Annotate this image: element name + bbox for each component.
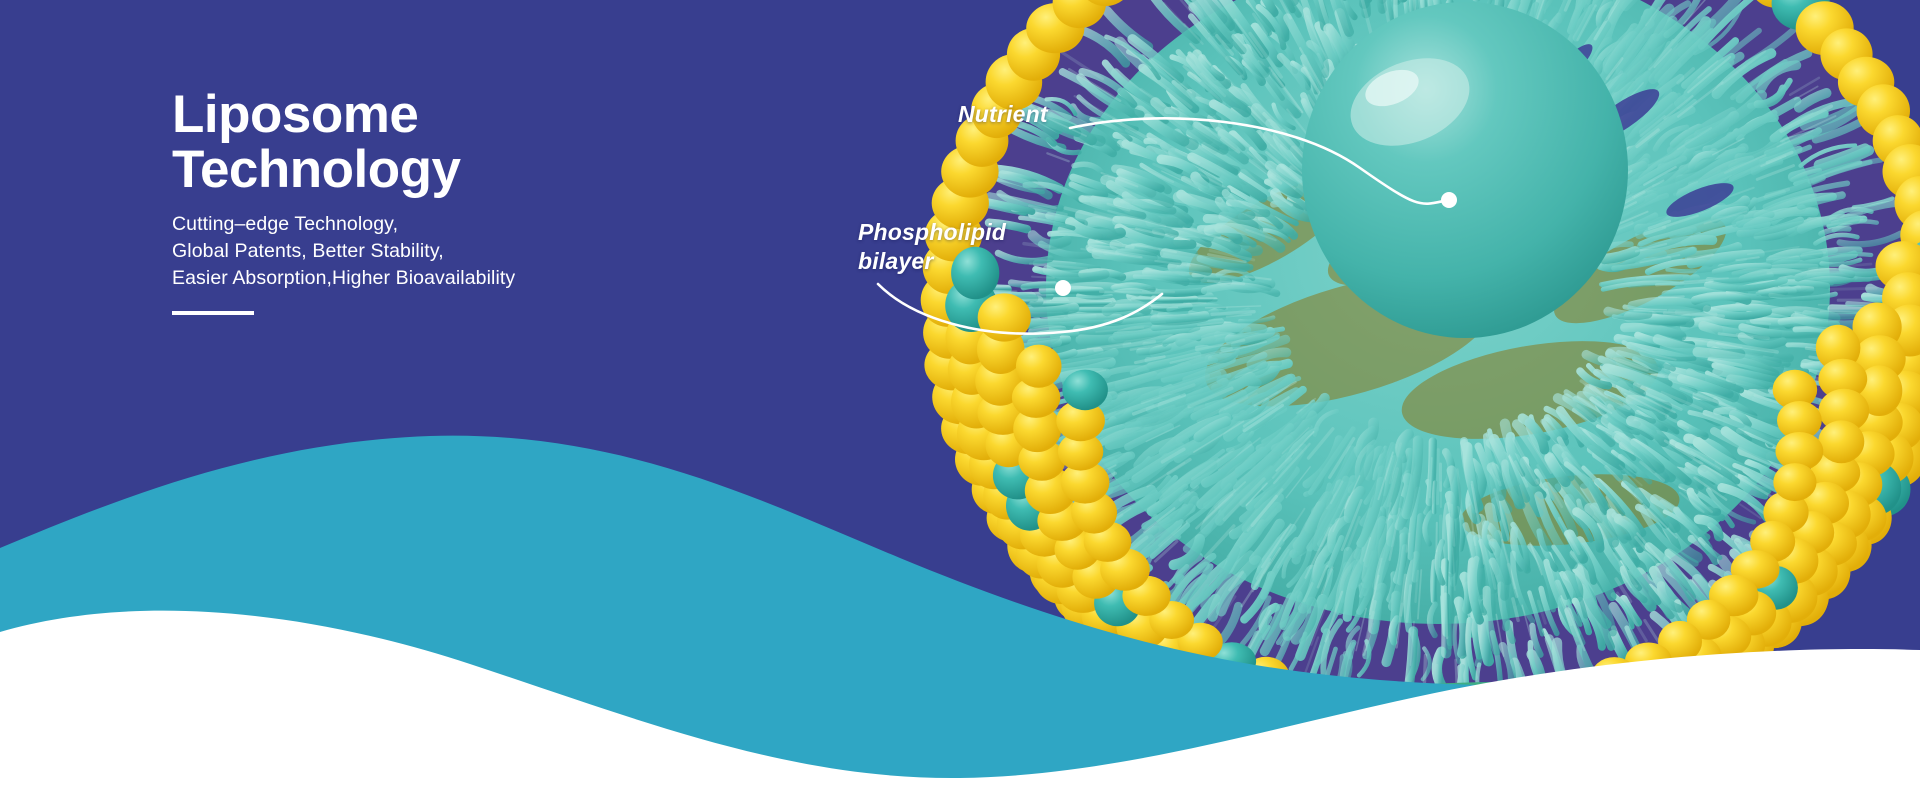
- decorative-waves: [0, 380, 1920, 800]
- headline-block: Liposome Technology Cutting–edge Technol…: [172, 88, 792, 315]
- subtitle-line-1: Cutting–edge Technology,: [172, 211, 792, 238]
- liposome-technology-banner: Liposome Technology Cutting–edge Technol…: [0, 0, 1920, 800]
- callout-label-phospholipid-bilayer: Phospholipid bilayer: [858, 218, 1006, 276]
- subtitle-line-2: Global Patents, Better Stability,: [172, 238, 792, 265]
- page-title: Liposome Technology: [172, 88, 792, 197]
- subtitle-line-3: Easier Absorption,Higher Bioavailability: [172, 265, 792, 292]
- title-underline-rule: [172, 311, 254, 315]
- subtitle-block: Cutting–edge Technology, Global Patents,…: [172, 211, 792, 291]
- callout-label-nutrient: Nutrient: [958, 100, 1048, 129]
